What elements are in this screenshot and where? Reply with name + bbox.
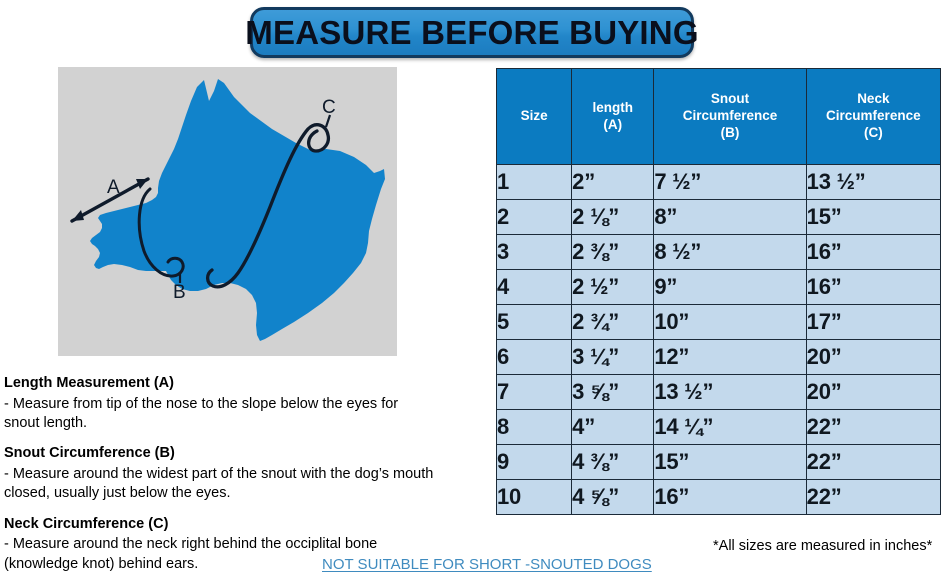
dog-measurement-illustration: A B C bbox=[58, 67, 397, 356]
dog-head-silhouette bbox=[90, 79, 385, 341]
snout-cell: 9” bbox=[654, 270, 806, 305]
table-row: 84”14 ¼”22” bbox=[497, 410, 941, 445]
size-cell: 6 bbox=[497, 340, 572, 375]
length-cell: 3 ¼” bbox=[572, 340, 654, 375]
units-footnote: *All sizes are measured in inches* bbox=[713, 538, 932, 554]
table-row: 12”7 ½”13 ½” bbox=[497, 165, 941, 200]
neck-cell: 20” bbox=[806, 340, 940, 375]
measurement-instructions: Length Measurement (A) - Measure from ti… bbox=[4, 374, 484, 574]
table-row: 22 ⅛”8”15” bbox=[497, 200, 941, 235]
neck-cell: 20” bbox=[806, 375, 940, 410]
length-cell: 2 ⅛” bbox=[572, 200, 654, 235]
table-header-row: Size length (A) Snout Circumference (B) … bbox=[497, 69, 941, 165]
instruction-block-snout: Snout Circumference (B) - Measure around… bbox=[4, 444, 484, 503]
snout-cell: 12” bbox=[654, 340, 806, 375]
length-cell: 2 ⅜” bbox=[572, 235, 654, 270]
instruction-block-length: Length Measurement (A) - Measure from ti… bbox=[4, 374, 484, 433]
neck-cell: 15” bbox=[806, 200, 940, 235]
length-cell: 3 ⅝” bbox=[572, 375, 654, 410]
snout-cell: 7 ½” bbox=[654, 165, 806, 200]
label-b: B bbox=[173, 282, 186, 303]
length-cell: 2” bbox=[572, 165, 654, 200]
instruction-heading-length: Length Measurement (A) bbox=[4, 374, 484, 394]
title-banner: MEASURE BEFORE BUYING bbox=[250, 7, 694, 58]
length-cell: 4” bbox=[572, 410, 654, 445]
label-c: C bbox=[322, 97, 336, 118]
column-header-snout: Snout Circumference (B) bbox=[654, 69, 806, 165]
table-row: 104 ⅝”16”22” bbox=[497, 480, 941, 515]
snout-cell: 13 ½” bbox=[654, 375, 806, 410]
table-row: 52 ¾”10”17” bbox=[497, 305, 941, 340]
size-chart-table-wrapper: Size length (A) Snout Circumference (B) … bbox=[496, 68, 941, 515]
instruction-body-length: - Measure from tip of the nose to the sl… bbox=[4, 395, 484, 434]
table-row: 94 ⅜”15”22” bbox=[497, 445, 941, 480]
size-chart-table: Size length (A) Snout Circumference (B) … bbox=[496, 68, 941, 515]
table-row: 73 ⅝”13 ½”20” bbox=[497, 375, 941, 410]
instruction-heading-snout: Snout Circumference (B) bbox=[4, 444, 484, 464]
size-cell: 1 bbox=[497, 165, 572, 200]
instruction-body-snout: - Measure around the widest part of the … bbox=[4, 465, 484, 504]
size-cell: 4 bbox=[497, 270, 572, 305]
snout-cell: 14 ¼” bbox=[654, 410, 806, 445]
size-cell: 3 bbox=[497, 235, 572, 270]
instruction-heading-neck: Neck Circumference (C) bbox=[4, 515, 484, 535]
snout-cell: 15” bbox=[654, 445, 806, 480]
neck-cell: 22” bbox=[806, 480, 940, 515]
column-header-neck: Neck Circumference (C) bbox=[806, 69, 940, 165]
snout-cell: 10” bbox=[654, 305, 806, 340]
size-cell: 5 bbox=[497, 305, 572, 340]
table-row: 63 ¼”12”20” bbox=[497, 340, 941, 375]
size-cell: 9 bbox=[497, 445, 572, 480]
neck-cell: 16” bbox=[806, 235, 940, 270]
size-cell: 7 bbox=[497, 375, 572, 410]
table-body: 12”7 ½”13 ½”22 ⅛”8”15”32 ⅜”8 ½”16”42 ½”9… bbox=[497, 165, 941, 515]
neck-cell: 16” bbox=[806, 270, 940, 305]
size-cell: 8 bbox=[497, 410, 572, 445]
not-suitable-notice: NOT SUITABLE FOR SHORT -SNOUTED DOGS bbox=[322, 556, 652, 573]
neck-cell: 13 ½” bbox=[806, 165, 940, 200]
dog-head-diagram: A B C bbox=[58, 67, 397, 356]
table-row: 32 ⅜”8 ½”16” bbox=[497, 235, 941, 270]
label-a: A bbox=[107, 177, 120, 198]
neck-cell: 22” bbox=[806, 410, 940, 445]
column-header-size: Size bbox=[497, 69, 572, 165]
length-cell: 2 ¾” bbox=[572, 305, 654, 340]
snout-cell: 16” bbox=[654, 480, 806, 515]
column-header-length: length (A) bbox=[572, 69, 654, 165]
snout-cell: 8 ½” bbox=[654, 235, 806, 270]
table-row: 42 ½”9”16” bbox=[497, 270, 941, 305]
length-cell: 2 ½” bbox=[572, 270, 654, 305]
snout-cell: 8” bbox=[654, 200, 806, 235]
size-cell: 2 bbox=[497, 200, 572, 235]
size-cell: 10 bbox=[497, 480, 572, 515]
neck-cell: 17” bbox=[806, 305, 940, 340]
length-cell: 4 ⅜” bbox=[572, 445, 654, 480]
page-title: MEASURE BEFORE BUYING bbox=[245, 14, 698, 52]
length-cell: 4 ⅝” bbox=[572, 480, 654, 515]
neck-cell: 22” bbox=[806, 445, 940, 480]
table-header: Size length (A) Snout Circumference (B) … bbox=[497, 69, 941, 165]
